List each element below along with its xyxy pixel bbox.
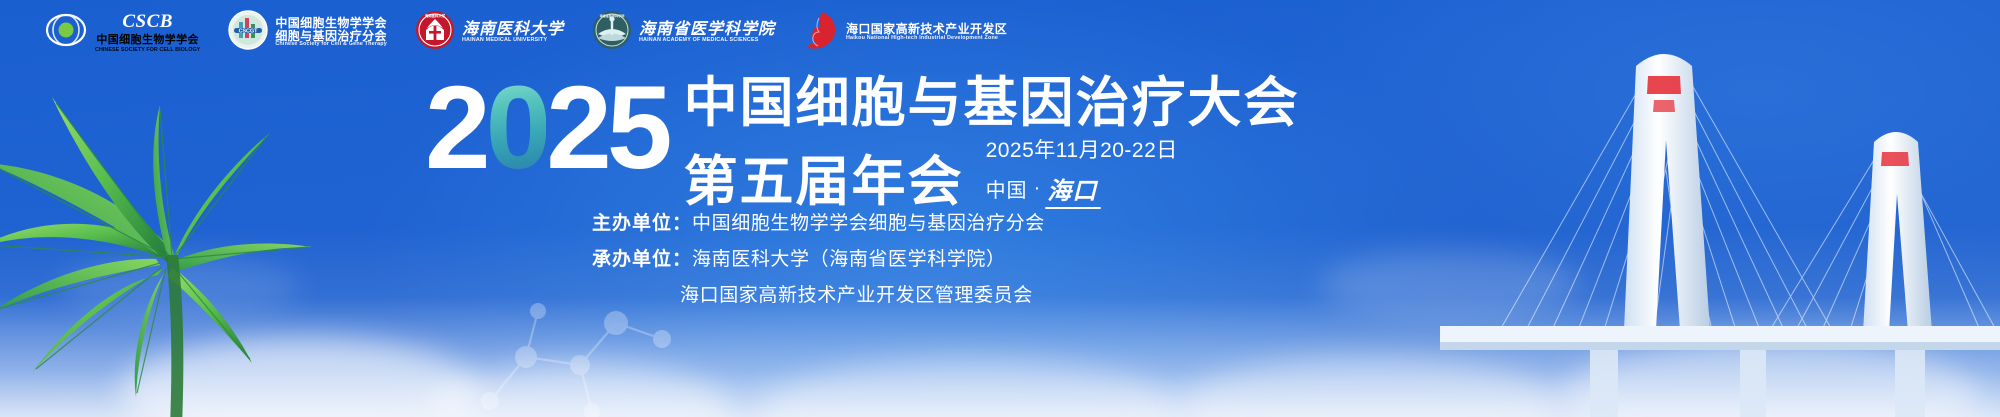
logo-cscgt-en: Chinese Society for Cell & Gene Therapy bbox=[275, 42, 387, 48]
logo-hmu-en: HAINAN MEDICAL UNIVERSITY bbox=[462, 38, 564, 44]
event-location-city-text: 海口 bbox=[1047, 176, 1097, 205]
organizer-value: 中国细胞生物学学会细胞与基因治疗分会 bbox=[692, 208, 1045, 235]
year-digit-3: 2 bbox=[546, 72, 607, 185]
cloud-puff bbox=[760, 359, 1180, 417]
cloud-puff bbox=[60, 255, 300, 319]
event-location-separator: · bbox=[1034, 177, 1042, 200]
cloud-puff bbox=[1320, 250, 1580, 320]
page-subtitle: 第五届年会 bbox=[684, 155, 964, 210]
cloud-puff bbox=[430, 363, 730, 417]
cloud-puff bbox=[1560, 341, 1980, 417]
logo-cscgt[interactable]: CSCGT 中国细胞生物学学会 细胞与基因治疗分会 Chinese Societ… bbox=[214, 10, 401, 55]
organizer-row: 承办单位： 海南医科大学（海南省医学科学院） bbox=[592, 244, 1045, 271]
logo-hmu-cn: 海南医科大学 bbox=[462, 21, 564, 38]
logo-haikou-en: Haikou National High-tech Industrial Dev… bbox=[846, 36, 1007, 42]
logo-hams-en: HAINAN ACADEMY OF MEDICAL SCIENCES bbox=[639, 38, 775, 44]
logo-hainan-medical-university[interactable]: 海南医科大学 海南医科大学 HAINAN MEDICAL UNIVERSITY bbox=[401, 10, 578, 55]
cloud-puff bbox=[120, 337, 480, 417]
svg-text:CSCGT: CSCGT bbox=[239, 28, 259, 34]
logo-haikou-hightech-zone[interactable]: 海口国家高新技术产业开发区 Haikou National High-tech … bbox=[789, 10, 1021, 55]
organizer-label: 主办单位： bbox=[592, 208, 692, 235]
organizer-label: 承办单位： bbox=[592, 244, 692, 271]
cloud-puff bbox=[1180, 357, 1560, 417]
cscb-circle-logo bbox=[44, 10, 88, 55]
event-meta: 2025年11月20-22日 中国 · 海口 bbox=[986, 137, 1178, 210]
conference-title-block: 2 0 2 5 中国细胞与基因治疗大会 第五届年会 2025年11月20-22日… bbox=[425, 72, 1300, 210]
organizer-value: 海南医科大学（海南省医学科学院） bbox=[692, 244, 1006, 271]
logo-cscb-abbr: CSCB bbox=[122, 12, 173, 31]
svg-text:海南医科大学: 海南医科大学 bbox=[425, 13, 446, 18]
haikou-flame-logo bbox=[803, 10, 839, 55]
hainan-medical-university-seal: 海南医科大学 bbox=[415, 10, 455, 55]
event-location-city: 海口 bbox=[1047, 171, 1097, 206]
page-title: 中国细胞与基因治疗大会 bbox=[684, 76, 1300, 131]
logo-hainan-academy-medical-sciences[interactable]: 海南省医学科学院 海南省医学科学院 HAINAN ACADEMY OF MEDI… bbox=[578, 10, 789, 55]
city-underline bbox=[1045, 207, 1101, 209]
logo-cscgt-cn-line1: 中国细胞生物学学会 bbox=[275, 17, 387, 30]
logo-hams-cn: 海南省医学科学院 bbox=[639, 21, 775, 38]
year-2025: 2 0 2 5 bbox=[425, 72, 668, 185]
logo-cscb-cn: 中国细胞生物学学会 bbox=[96, 31, 199, 47]
organizer-row: 主办单位： 中国细胞生物学学会细胞与基因治疗分会 bbox=[592, 208, 1045, 235]
cscgt-seal-logo: CSCGT bbox=[228, 10, 268, 55]
partner-logo-strip: CSCB 中国细胞生物学学会 CHINESE SOCIETY FOR CELL … bbox=[30, 10, 1021, 55]
year-digit-1: 2 bbox=[425, 72, 486, 185]
organizer-row: 海口国家高新技术产业开发区管理委员会 bbox=[680, 280, 1045, 307]
year-digit-2: 0 bbox=[486, 72, 547, 185]
hainan-academy-medical-sciences-seal: 海南省医学科学院 bbox=[592, 10, 632, 55]
year-digit-4: 5 bbox=[607, 72, 668, 185]
event-date: 2025年11月20-22日 bbox=[986, 137, 1178, 165]
conference-banner: CSCB 中国细胞生物学学会 CHINESE SOCIETY FOR CELL … bbox=[0, 0, 2000, 417]
event-location-prefix: 中国 bbox=[986, 174, 1028, 203]
svg-text:海南省医学科学院: 海南省医学科学院 bbox=[600, 13, 626, 18]
logo-cscb-en: CHINESE SOCIETY FOR CELL BIOLOGY bbox=[95, 47, 200, 53]
organizer-list: 主办单位： 中国细胞生物学学会细胞与基因治疗分会 承办单位： 海南医科大学（海南… bbox=[592, 208, 1045, 316]
organizer-value: 海口国家高新技术产业开发区管理委员会 bbox=[680, 280, 1033, 307]
event-location: 中国 · 海口 bbox=[986, 171, 1178, 206]
logo-cscb[interactable]: CSCB 中国细胞生物学学会 CHINESE SOCIETY FOR CELL … bbox=[30, 10, 214, 55]
